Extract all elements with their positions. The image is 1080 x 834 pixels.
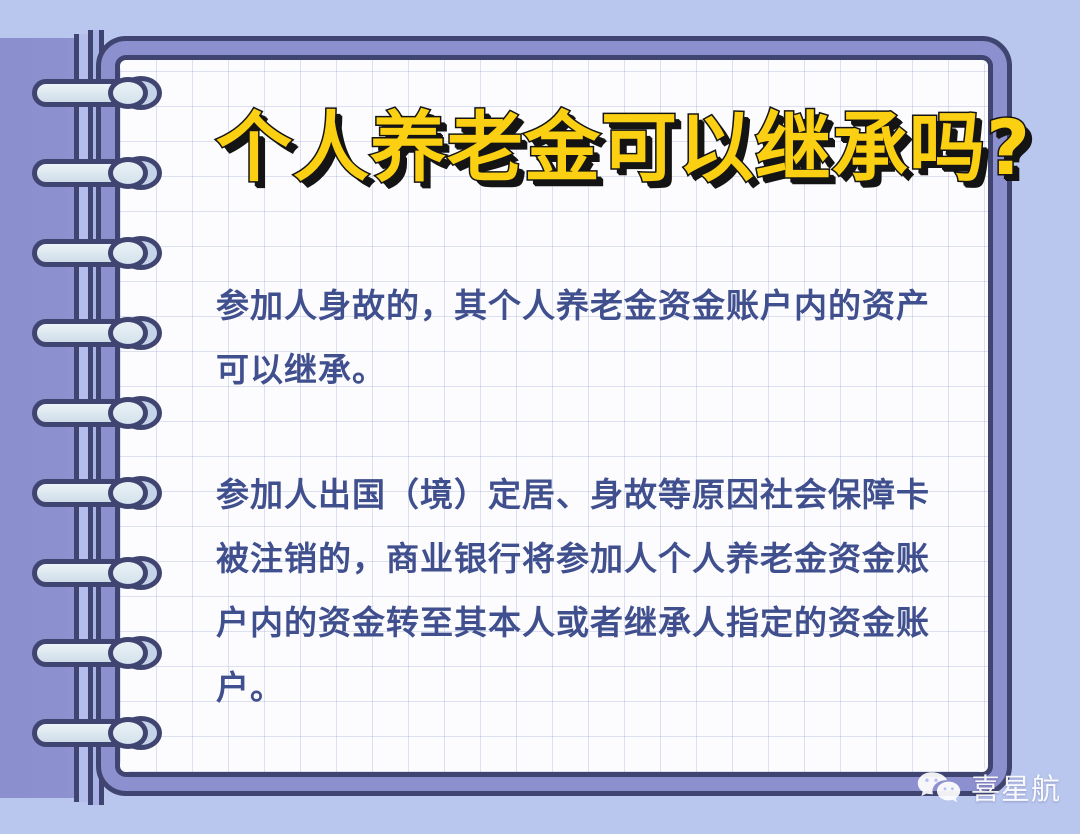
spiral-ring-loop-front [108, 77, 148, 109]
wechat-icon [916, 770, 962, 804]
spiral-ring-loop-front [108, 637, 148, 669]
body-paragraph-2: 参加人出国（境）定居、身故等原因社会保障卡被注销的，商业银行将参加人个人养老金资… [216, 463, 956, 720]
body-paragraph-1: 参加人身故的，其个人养老金资金账户内的资产可以继承。 [216, 274, 956, 403]
spiral-ring-loop-front [108, 477, 148, 509]
spiral-ring-loop-front [108, 397, 148, 429]
spiral-ring-loop-front [108, 317, 148, 349]
poster-content: 个人养老金可以继承吗? 参加人身故的，其个人养老金资金账户内的资产可以继承。 参… [216, 110, 956, 720]
spiral-ring-loop-front [108, 157, 148, 189]
spiral-ring-loop-front [108, 237, 148, 269]
spiral-ring-loop-front [108, 717, 148, 749]
spiral-ring-loop-front [108, 557, 148, 589]
watermark-account-name: 喜星航 [971, 766, 1061, 808]
poster-canvas: 个人养老金可以继承吗? 参加人身故的，其个人养老金资金账户内的资产可以继承。 参… [0, 0, 1080, 834]
watermark: 喜星航 [916, 766, 1061, 808]
page-title: 个人养老金可以继承吗? [216, 110, 956, 186]
